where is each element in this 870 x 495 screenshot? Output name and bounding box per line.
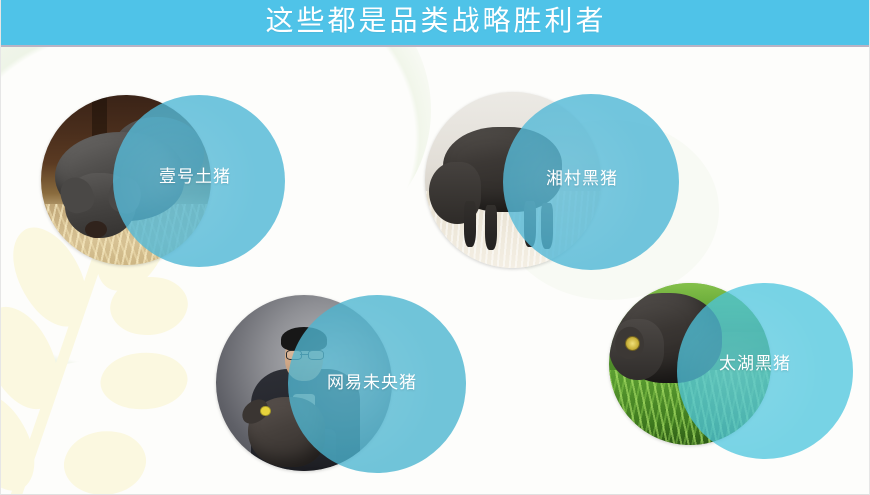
title-underline-rule: [1, 45, 870, 47]
venn-label-4: 太湖黑猪: [719, 355, 791, 372]
pig-snout: [85, 221, 107, 238]
venn-label-1: 壹号土猪: [159, 168, 231, 185]
pig-leg: [464, 201, 476, 247]
venn-group-4[interactable]: 太湖黑猪: [609, 283, 854, 445]
venn-label-3: 网易未央猪: [327, 374, 417, 391]
wheat-leaf: [1, 475, 38, 494]
title-bar: 这些都是品类战略胜利者: [1, 0, 870, 45]
wheat-leaf: [1, 382, 54, 494]
slide-canvas: 这些都是品类战略胜利者 壹号土猪: [0, 0, 870, 495]
venn-group-1[interactable]: 壹号土猪: [41, 95, 291, 267]
venn-label-2: 湘村黑猪: [546, 170, 618, 187]
wheat-leaf: [97, 346, 190, 415]
page-title: 这些都是品类战略胜利者: [1, 0, 870, 45]
piglet-ear-tag: [260, 406, 271, 417]
wheat-leaf: [1, 295, 78, 420]
pig-leg: [485, 205, 497, 251]
wheat-leaf: [106, 269, 193, 343]
venn-group-3[interactable]: 网易未央猪: [216, 295, 466, 473]
wheat-leaf: [58, 421, 152, 494]
venn-group-2[interactable]: 湘村黑猪: [425, 92, 679, 270]
